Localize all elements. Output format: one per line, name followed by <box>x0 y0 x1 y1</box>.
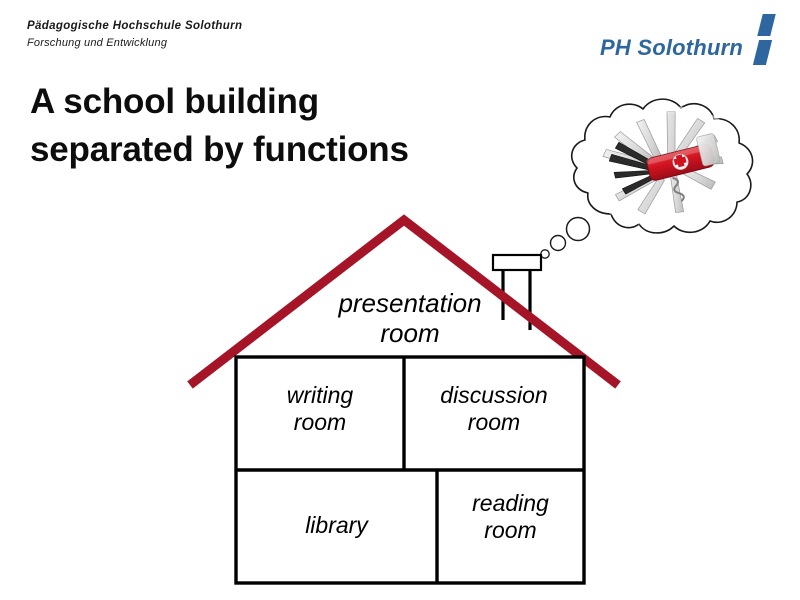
institution-department: Forschung und Entwicklung <box>27 36 242 50</box>
room-label-writing: writing room <box>236 382 404 435</box>
logo-slanted-bars-icon <box>748 14 778 66</box>
page-title: A school building separated by functions <box>30 78 590 175</box>
page-title-line-2: separated by functions <box>30 126 590 174</box>
room-label-library: library <box>236 512 437 539</box>
logo-wordmark: PH Solothurn <box>600 37 743 66</box>
room-label-reading: reading room <box>437 490 584 543</box>
room-label-discussion: discussion room <box>404 382 584 435</box>
page-title-line-1: A school building <box>30 78 590 126</box>
swiss-army-knife-icon <box>574 91 753 241</box>
slide-canvas: Pädagogische Hochschule Solothurn Forsch… <box>0 0 800 600</box>
ph-solothurn-logo: PH Solothurn <box>600 14 778 66</box>
institution-header: Pädagogische Hochschule Solothurn Forsch… <box>27 19 242 50</box>
institution-name: Pädagogische Hochschule Solothurn <box>27 19 242 34</box>
room-label-presentation: presentation room <box>236 288 584 348</box>
